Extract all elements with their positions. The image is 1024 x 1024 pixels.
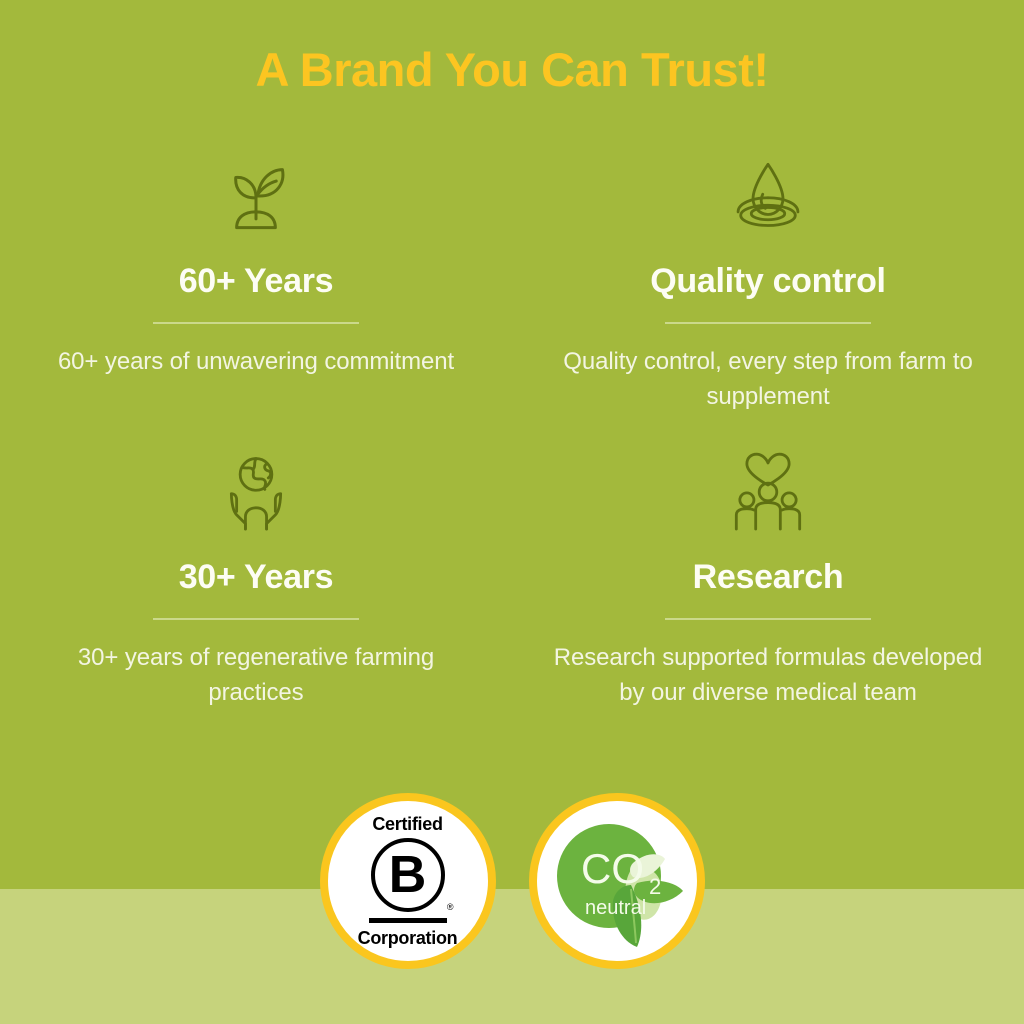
- certification-badges: Certified B ® Corporation: [0, 793, 1024, 969]
- b-corp-circled-b: B ®: [371, 838, 445, 912]
- b-corp-bottom-text: Corporation: [358, 929, 458, 947]
- b-corp-lockup: Certified B ® Corporation: [328, 815, 488, 947]
- feature-description: Quality control, every step from farm to…: [548, 344, 988, 414]
- co2-neutral-lockup: CO 2 neutral: [537, 801, 697, 961]
- feature-description: 60+ years of unwavering commitment: [58, 344, 454, 379]
- feature-divider: [153, 618, 359, 620]
- feature-item-years-60: 60+ Years 60+ years of unwavering commit…: [0, 152, 512, 448]
- feature-divider: [665, 618, 871, 620]
- feature-item-quality-control: Quality control Quality control, every s…: [512, 152, 1024, 448]
- sprout-icon: [212, 152, 300, 240]
- b-corp-letter: B: [371, 838, 445, 912]
- b-corp-certification-badge[interactable]: Certified B ® Corporation: [320, 793, 496, 969]
- hands-holding-globe-icon: [212, 448, 300, 536]
- feature-description: 30+ years of regenerative farming practi…: [36, 640, 476, 710]
- co2-subscript: 2: [649, 874, 661, 899]
- b-corp-top-text: Certified: [372, 815, 442, 833]
- page-title: A Brand You Can Trust!: [0, 44, 1024, 96]
- feature-title: Research: [693, 558, 844, 596]
- feature-title: 60+ Years: [179, 262, 334, 300]
- co2-sub-text: neutral: [585, 897, 646, 919]
- brand-trust-poster: A Brand You Can Trust! 60+ Years 60+ yea…: [0, 0, 1024, 1024]
- feature-grid: 60+ Years 60+ years of unwavering commit…: [0, 152, 1024, 710]
- people-heart-icon: [724, 448, 812, 536]
- feature-item-years-30: 30+ Years 30+ years of regenerative farm…: [0, 448, 512, 710]
- feature-divider: [153, 322, 359, 324]
- registered-trademark-icon: ®: [447, 903, 454, 912]
- feature-divider: [665, 322, 871, 324]
- co2-neutral-badge[interactable]: CO 2 neutral: [529, 793, 705, 969]
- feature-title: 30+ Years: [179, 558, 334, 596]
- co2-main-text: CO: [581, 845, 644, 892]
- feature-title: Quality control: [650, 262, 885, 300]
- feature-item-research: Research Research supported formulas dev…: [512, 448, 1024, 710]
- feature-description: Research supported formulas developed by…: [548, 640, 988, 710]
- water-drop-ripple-icon: [724, 152, 812, 240]
- b-corp-rule: [369, 918, 447, 923]
